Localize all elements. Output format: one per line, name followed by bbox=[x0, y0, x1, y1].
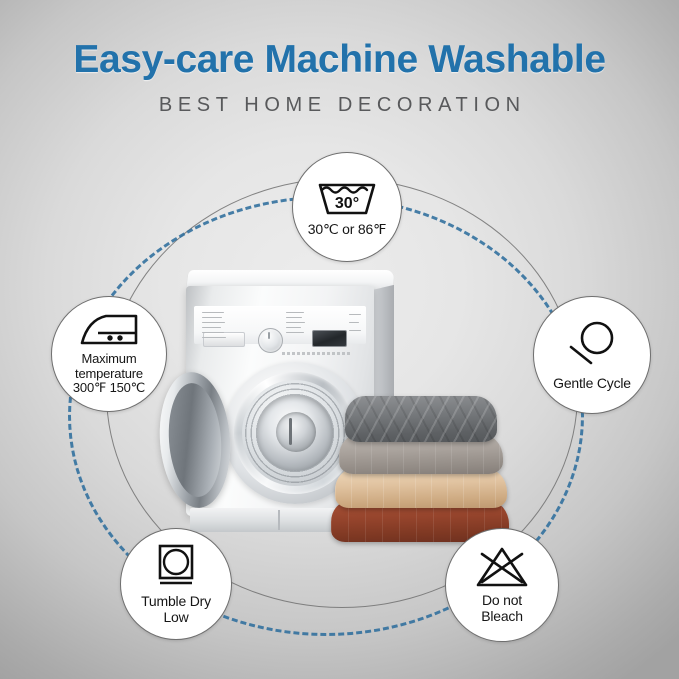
open-door-inner bbox=[165, 381, 225, 498]
badge-tumble-dry: Tumble Dry Low bbox=[120, 528, 232, 640]
detergent-drawer bbox=[203, 332, 245, 347]
washer-display bbox=[312, 330, 347, 347]
badge-wash-temperature: 30° 30℃ or 86℉ bbox=[292, 152, 402, 262]
drum-core bbox=[276, 412, 316, 452]
iron-icon bbox=[76, 312, 142, 348]
badge-caption: Gentle Cycle bbox=[553, 376, 631, 392]
washer-control-panel bbox=[194, 306, 366, 344]
tumble-dry-icon bbox=[152, 543, 200, 589]
program-dial bbox=[258, 328, 283, 353]
open-door-panel bbox=[155, 370, 234, 511]
badge-caption: Do not Bleach bbox=[481, 593, 523, 625]
badge-iron-temperature: Maximum temperature 300℉ 150℃ bbox=[51, 296, 167, 412]
blanket-stack bbox=[331, 396, 515, 542]
badge-caption: Tumble Dry Low bbox=[141, 594, 211, 626]
blanket-dark-gray bbox=[345, 396, 497, 442]
badge-gentle-cycle: Gentle Cycle bbox=[533, 296, 651, 414]
gentle-cycle-icon bbox=[563, 319, 621, 369]
badge-do-not-bleach: Do not Bleach bbox=[445, 528, 559, 642]
washer-brand-mark bbox=[282, 352, 350, 355]
wash-tub-icon: 30° bbox=[316, 177, 378, 217]
badge-caption: Maximum temperature 300℉ 150℃ bbox=[73, 352, 145, 396]
blanket-beige-tan bbox=[335, 468, 507, 508]
product-infographic: Easy-care Machine Washable BEST HOME DEC… bbox=[0, 0, 679, 679]
do-not-bleach-icon bbox=[474, 545, 530, 589]
badge-caption: 30℃ or 86℉ bbox=[308, 222, 386, 238]
svg-text:30°: 30° bbox=[335, 195, 359, 212]
